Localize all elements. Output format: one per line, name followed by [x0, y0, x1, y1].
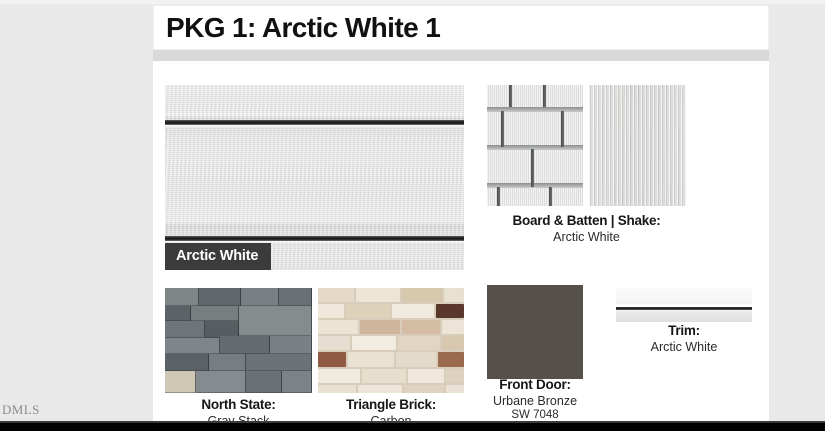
shake-joint-line — [501, 111, 504, 147]
vertical-grain-texture — [589, 85, 686, 206]
shake-joint-line — [497, 187, 500, 206]
siding-lap-swatch[interactable]: Arctic White — [165, 85, 464, 270]
shake-joint-line — [543, 85, 546, 107]
caption-title: North State: — [165, 397, 312, 413]
shake-course-line — [487, 183, 583, 188]
caption-title: Front Door: — [487, 377, 583, 393]
shake-joint-line — [549, 187, 552, 206]
board-batten-shake-swatch[interactable] — [487, 85, 583, 206]
siding-swatch-tag: Arctic White — [165, 243, 271, 271]
shake-joint-line — [531, 149, 534, 187]
top-strip — [0, 0, 825, 4]
shake-joint-line — [509, 85, 512, 107]
bottom-bar — [0, 423, 825, 431]
caption-subtitle: Arctic White — [487, 230, 686, 245]
page-title: PKG 1: Arctic White 1 — [166, 12, 440, 44]
caption-subtitle: Urbane Bronze — [487, 394, 583, 409]
trim-swatch[interactable] — [616, 288, 752, 322]
shake-joint-line — [561, 111, 564, 147]
section-divider-band — [153, 50, 769, 61]
front-door-caption: Front Door: Urbane Bronze SW 7048 — [487, 377, 583, 422]
front-door-swatch[interactable] — [487, 285, 583, 379]
slide-viewport: PKG 1: Arctic White 1 Arctic White Board… — [0, 0, 825, 431]
caption-subtitle: Arctic White — [616, 340, 752, 355]
siding-highlight-line — [165, 125, 464, 128]
brick-swatch[interactable] — [318, 288, 464, 393]
caption-title: Triangle Brick: — [318, 397, 464, 413]
board-batten-shake-caption: Board & Batten | Shake: Arctic White — [487, 213, 686, 244]
stone-swatch[interactable] — [165, 288, 312, 393]
title-card: PKG 1: Arctic White 1 — [153, 5, 769, 50]
watermark-label: DMLS — [2, 402, 40, 418]
trim-shadow-line — [616, 307, 752, 310]
trim-caption: Trim: Arctic White — [616, 323, 752, 354]
shake-grain-swatch[interactable] — [589, 85, 686, 206]
caption-title: Board & Batten | Shake: — [487, 213, 686, 229]
caption-title: Trim: — [616, 323, 752, 339]
